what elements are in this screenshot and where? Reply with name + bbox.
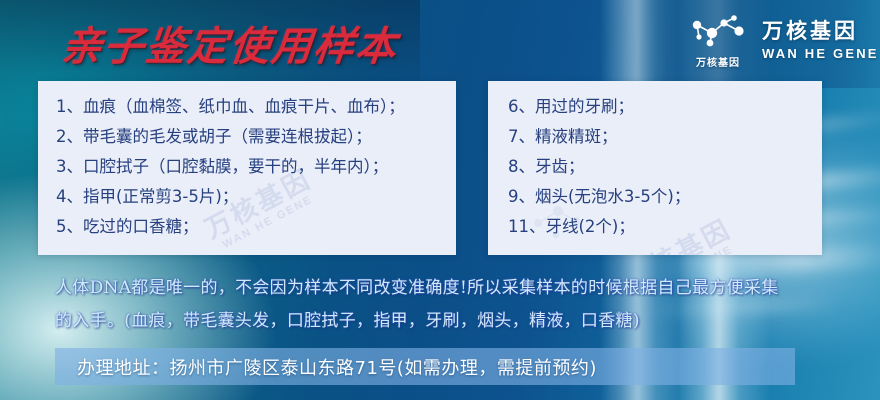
sample-list-right: 6、用过的牙刷； 7、精液精斑； 8、牙齿； 9、烟头(无泡水3-5个)； 11… xyxy=(488,81,822,242)
logo-mark-label: 万核基因 xyxy=(696,54,740,69)
list-item: 9、烟头(无泡水3-5个)； xyxy=(508,182,822,212)
note-paragraph: 人体DNA都是唯一的，不会因为样本不同改变准确度!所以采集样本的时候根据自己最方… xyxy=(55,272,845,338)
list-item: 7、精液精斑； xyxy=(508,122,822,152)
sample-list-panel-right: 万核基因 WAN HE GENE 万核基因 WAN HE GENE 6、用过的牙… xyxy=(488,81,822,255)
list-item: 6、用过的牙刷； xyxy=(508,92,822,122)
list-item: 4、指甲(正常剪3-5片)； xyxy=(56,182,456,212)
list-item: 8、牙齿； xyxy=(508,152,822,182)
list-item: 5、吃过的口香糖； xyxy=(56,212,456,242)
brand-name-cn: 万核基因 xyxy=(762,20,879,44)
brand-logo: 万核基因 万核基因 WAN HE GENE xyxy=(688,12,879,69)
molecule-dna-icon xyxy=(688,12,748,52)
list-item: 2、带毛囊的毛发或胡子（需要连根拔起）； xyxy=(56,122,456,152)
address-bar: 办理地址：扬州市广陵区泰山东路71号(如需办理，需提前预约) xyxy=(55,348,795,385)
list-item: 11、牙线(2个)； xyxy=(508,212,822,242)
list-item: 1、血痕（血棉签、纸巾血、血痕干片、血布）； xyxy=(56,92,456,122)
sample-list-panel-left: 万核基因 WAN HE GENE 万核基因 WAN HE GENE 1、血痕（血… xyxy=(38,81,456,255)
address-text: 办理地址：扬州市广陵区泰山东路71号(如需办理，需提前预约) xyxy=(55,354,597,380)
note-line-2: 的入手。(血痕，带毛囊头发，口腔拭子，指甲，牙刷，烟头，精液，口香糖) xyxy=(55,305,845,338)
poster-canvas: 亲子鉴定使用样本 xyxy=(0,0,880,400)
list-item: 3、口腔拭子（口腔黏膜，要干的，半年内）； xyxy=(56,152,456,182)
logo-mark: 万核基因 xyxy=(688,12,748,69)
brand-name-en: WAN HE GENE xyxy=(762,46,879,61)
page-title: 亲子鉴定使用样本 xyxy=(59,14,401,72)
sample-list-left: 1、血痕（血棉签、纸巾血、血痕干片、血布）； 2、带毛囊的毛发或胡子（需要连根拔… xyxy=(38,81,456,242)
logo-wordmark: 万核基因 WAN HE GENE xyxy=(762,20,879,61)
note-line-1: 人体DNA都是唯一的，不会因为样本不同改变准确度!所以采集样本的时候根据自己最方… xyxy=(55,272,845,305)
